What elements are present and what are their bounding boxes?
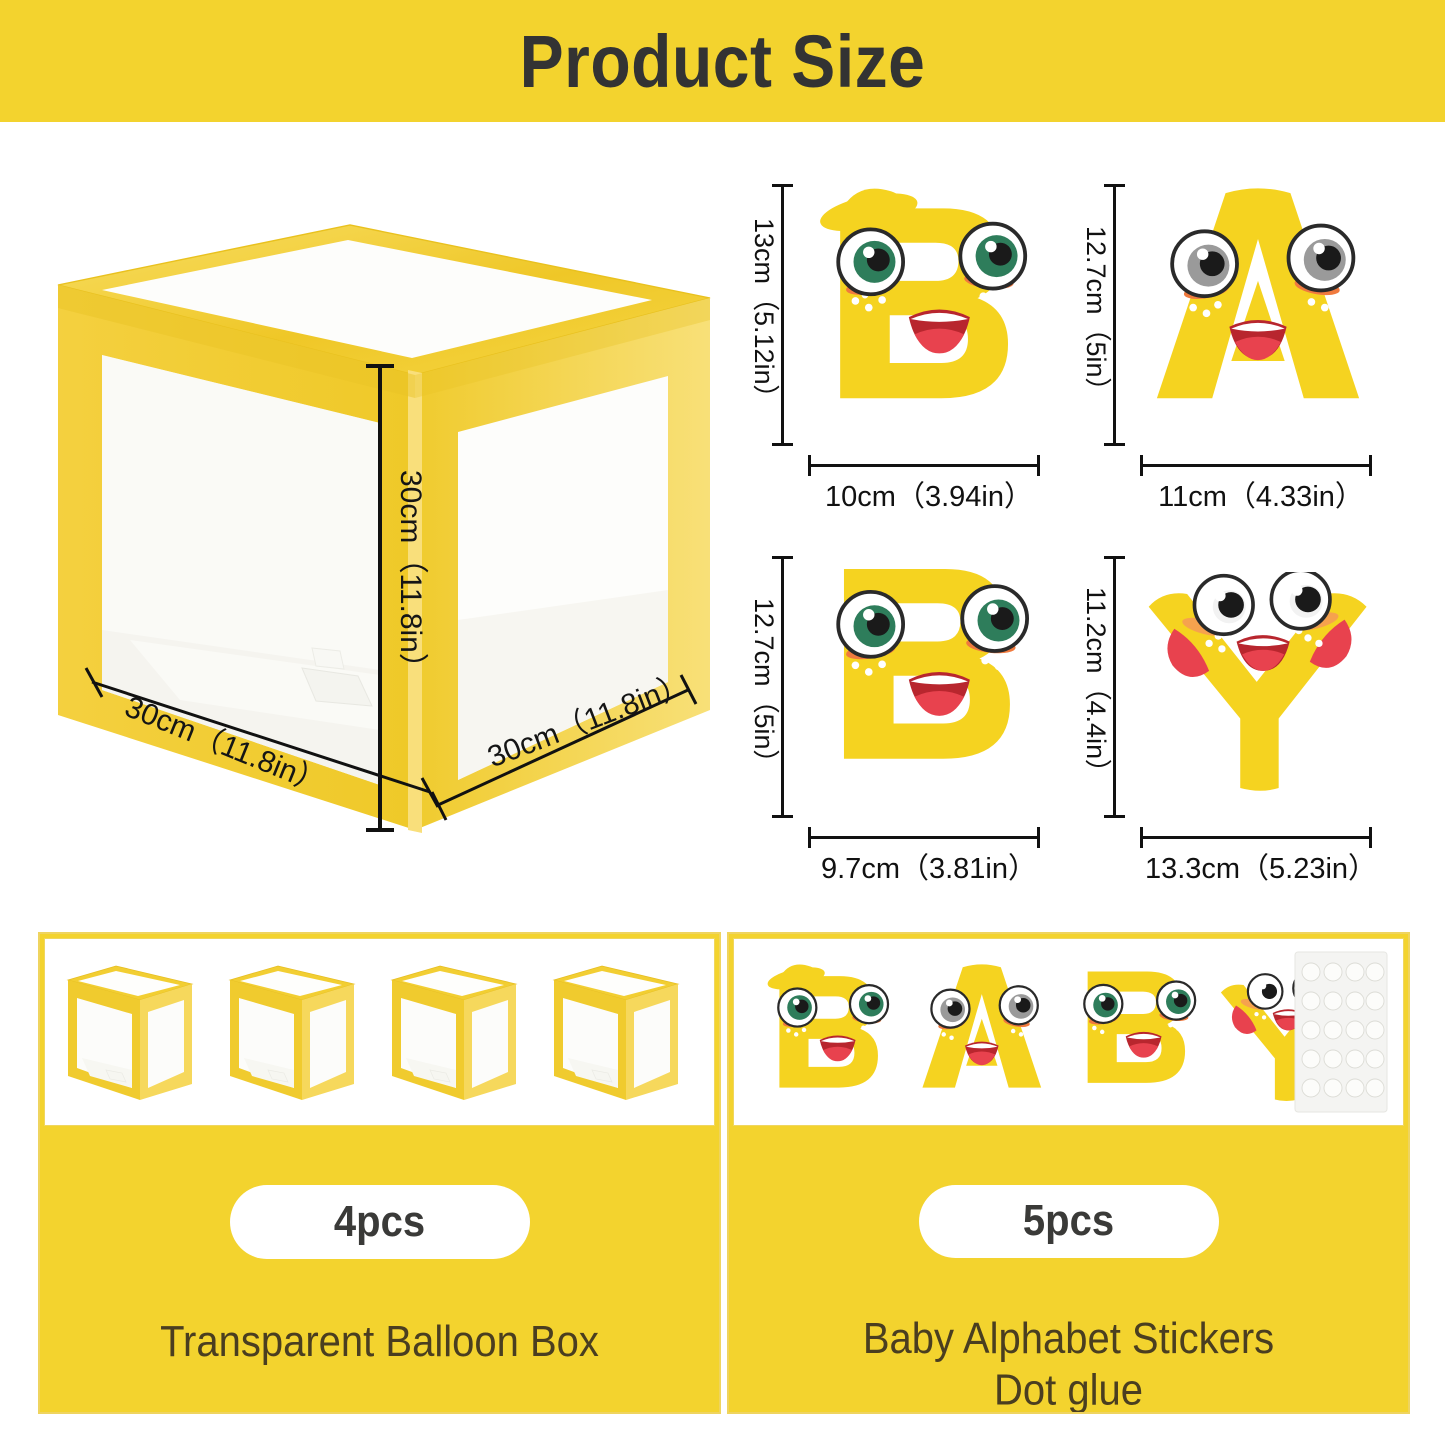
letter-width-label: 10cm（3.94in） bbox=[798, 473, 1060, 515]
letter-b-hat-graphic bbox=[802, 174, 1050, 446]
letter-size-cell: 12.7cm（5in） bbox=[740, 532, 1060, 887]
box-height-label: 30cm（11.8in） bbox=[388, 470, 432, 683]
letter-width-dimension bbox=[808, 464, 1040, 467]
quantity-label: 4pcs bbox=[334, 1198, 425, 1247]
baby-letters-and-glue-graphic bbox=[739, 942, 1399, 1122]
letter-height-dimension: 12.7cm（5in） bbox=[750, 556, 784, 818]
letter-width-dimension bbox=[1140, 464, 1372, 467]
card-photo-baby-letters bbox=[733, 938, 1404, 1126]
four-boxes-graphic bbox=[50, 942, 710, 1122]
letter-width-label: 9.7cm（3.81in） bbox=[798, 845, 1060, 887]
letter-size-grid: 13cm（5.12in） bbox=[740, 160, 1405, 900]
dimension-bar bbox=[1113, 184, 1116, 446]
dimension-bar bbox=[1113, 556, 1116, 818]
dimension-bar bbox=[781, 556, 784, 818]
letter-size-cell: 12.7cm（5in） bbox=[1072, 160, 1392, 515]
letter-height-dimension: 11.2cm（4.4in） bbox=[1082, 556, 1116, 818]
header-banner: Product Size bbox=[0, 0, 1445, 122]
letter-size-cell: 13cm（5.12in） bbox=[740, 160, 1060, 515]
card-photo-balloon-boxes bbox=[44, 938, 715, 1126]
product-card-alphabet-stickers: 5pcs Baby Alphabet Stickers Dot glue bbox=[727, 932, 1410, 1414]
page-title: Product Size bbox=[520, 24, 926, 98]
card-caption: Transparent Balloon Box bbox=[144, 1317, 615, 1369]
product-size-infographic: Product Size bbox=[0, 0, 1445, 1445]
quantity-badge: 5pcs bbox=[919, 1185, 1219, 1258]
card-body: 4pcs Transparent Balloon Box bbox=[40, 1130, 719, 1412]
card-caption: Baby Alphabet Stickers Dot glue bbox=[847, 1313, 1290, 1414]
letter-width-dimension bbox=[1140, 836, 1372, 839]
letter-b-graphic bbox=[802, 546, 1050, 818]
letter-size-cell: 11.2cm（4.4in） bbox=[1072, 532, 1392, 887]
letter-a-graphic bbox=[1134, 174, 1382, 446]
letter-width-label: 13.3cm（5.23in） bbox=[1130, 845, 1392, 887]
dimension-bar bbox=[781, 184, 784, 446]
quantity-badge: 4pcs bbox=[230, 1185, 530, 1259]
box-height-dimension bbox=[40, 170, 730, 890]
product-card-balloon-box: 4pcs Transparent Balloon Box bbox=[38, 932, 721, 1414]
letter-height-label: 11.2cm（4.4in） bbox=[1082, 587, 1109, 786]
letter-height-label: 13cm（5.12in） bbox=[750, 218, 777, 412]
letter-width-label: 11cm（4.33in） bbox=[1130, 473, 1392, 515]
dot-glue-sheet bbox=[1295, 952, 1387, 1112]
letter-height-dimension: 12.7cm（5in） bbox=[1082, 184, 1116, 446]
card-body: 5pcs Baby Alphabet Stickers Dot glue bbox=[729, 1130, 1408, 1412]
quantity-label: 5pcs bbox=[1023, 1197, 1114, 1246]
letter-width-dimension bbox=[808, 836, 1040, 839]
balloon-box-illustration: 30cm（11.8in） 30cm（11.8in） 30cm（11.8in） bbox=[40, 170, 730, 890]
letter-height-label: 12.7cm（5in） bbox=[750, 598, 777, 777]
letter-height-dimension: 13cm（5.12in） bbox=[750, 184, 784, 446]
letter-y-graphic bbox=[1134, 546, 1382, 818]
letter-height-label: 12.7cm（5in） bbox=[1082, 226, 1109, 405]
